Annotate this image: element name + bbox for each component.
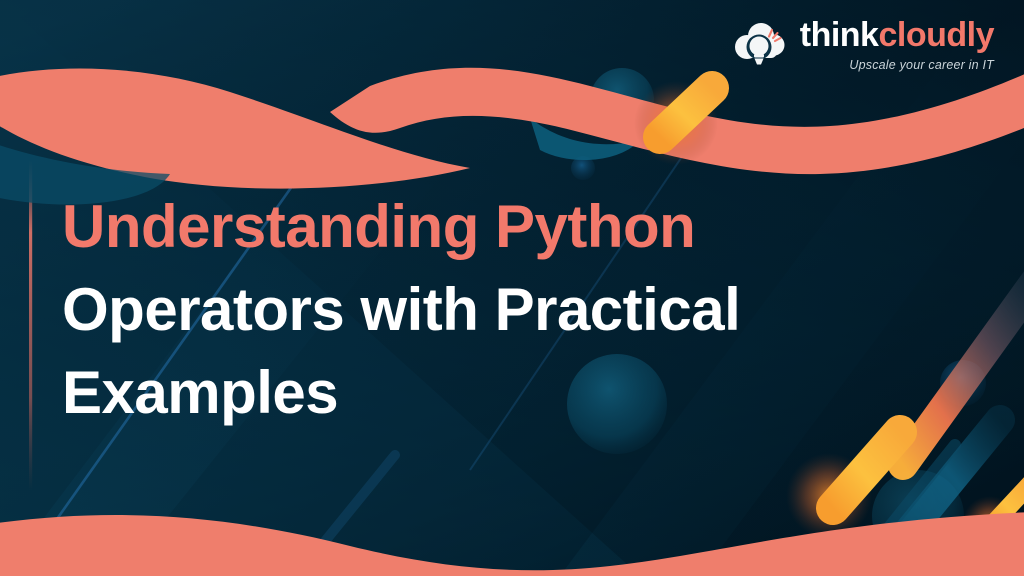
title-line-2: Operators with Practical xyxy=(62,269,902,352)
title-line-1: Understanding Python xyxy=(62,186,902,269)
page-title: Understanding Python Operators with Prac… xyxy=(62,186,902,434)
wordmark-think: think xyxy=(800,16,879,54)
title-line-3: Examples xyxy=(62,352,902,435)
logo-tagline: Upscale your career in IT xyxy=(849,59,994,72)
logo-text-group: thinkcloudly Upscale your career in IT xyxy=(800,18,994,72)
wordmark-cloudly: cloudly xyxy=(878,16,994,54)
cloud-lightbulb-icon xyxy=(730,19,788,71)
coral-vertical-line xyxy=(29,160,32,490)
brand-logo[interactable]: thinkcloudly Upscale your career in IT xyxy=(730,18,994,72)
logo-wordmark: thinkcloudly xyxy=(800,18,994,52)
banner-graphic: thinkcloudly Upscale your career in IT U… xyxy=(0,0,1024,576)
